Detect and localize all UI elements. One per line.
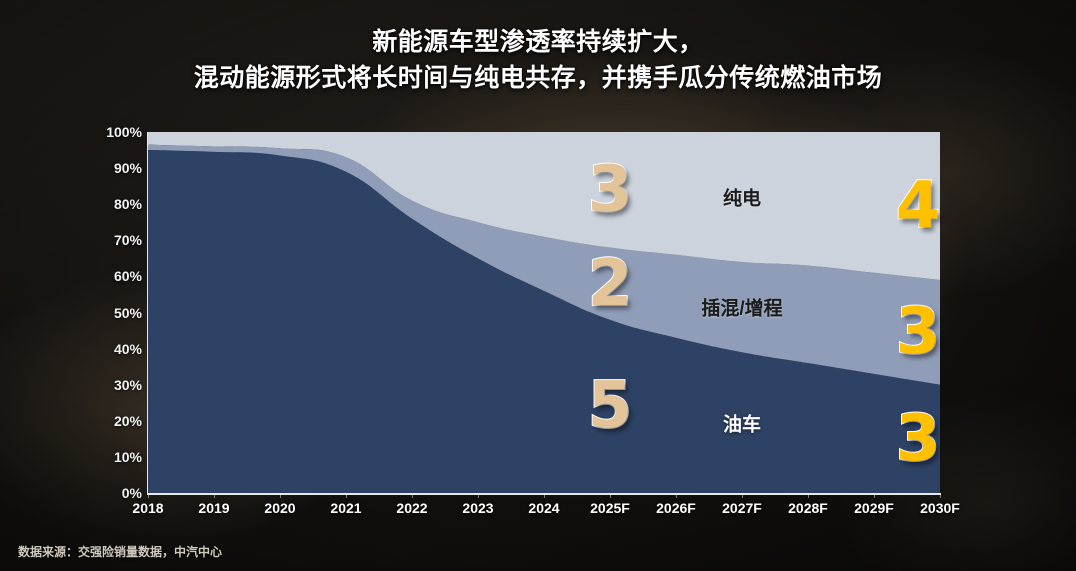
x-axis-tick-label: 2026F <box>656 500 696 516</box>
big-number-2030F-油车: 3 <box>896 407 941 471</box>
area-series-svg <box>148 132 940 493</box>
x-axis-tickmark <box>346 493 347 498</box>
series-label-油车: 油车 <box>723 409 761 436</box>
x-axis-tick-label: 2021 <box>330 500 361 516</box>
big-number-2025F-油车: 5 <box>588 374 633 438</box>
y-axis-tick-label: 20% <box>114 413 142 429</box>
x-axis-tick-label: 2024 <box>528 500 559 516</box>
y-axis-tick-label: 60% <box>114 268 142 284</box>
x-axis-tickmark <box>214 493 215 498</box>
y-axis-tick-label: 0% <box>122 485 142 501</box>
x-axis-tickmark <box>808 493 809 498</box>
x-axis-tick-label: 2029F <box>854 500 894 516</box>
x-axis-tick-label: 2022 <box>396 500 427 516</box>
x-axis-tickmark <box>610 493 611 498</box>
page-title: 新能源车型渗透率持续扩大， 混动能源形式将长时间与纯电共存，并携手瓜分传统燃油市… <box>0 24 1076 96</box>
x-axis-tickmark <box>280 493 281 498</box>
y-axis-tick-label: 10% <box>114 449 142 465</box>
x-axis-tick-label: 2019 <box>198 500 229 516</box>
x-axis-tick-label: 2027F <box>722 500 762 516</box>
y-axis-tick-label: 50% <box>114 305 142 321</box>
x-axis-tickmark <box>478 493 479 498</box>
x-axis-tick-label: 2023 <box>462 500 493 516</box>
series-label-插混/增程: 插混/增程 <box>701 294 782 321</box>
y-axis: 0%10%20%30%40%50%60%70%80%90%100% <box>96 132 142 493</box>
source-note: 数据来源：交强险销量数据，中汽中心 <box>18 543 222 560</box>
x-axis-tickmark <box>742 493 743 498</box>
big-number-2030F-插混/增程: 3 <box>896 300 941 364</box>
x-axis-tickmark <box>676 493 677 498</box>
y-axis-tick-label: 30% <box>114 377 142 393</box>
x-axis-tickmark <box>874 493 875 498</box>
stacked-area-plot <box>148 132 940 493</box>
x-axis-tick-label: 2025F <box>590 500 630 516</box>
x-axis-tickmark <box>940 493 941 498</box>
series-label-纯电: 纯电 <box>723 183 761 210</box>
x-axis-tickmark <box>148 493 149 498</box>
x-axis-tick-label: 2018 <box>132 500 163 516</box>
x-axis-tick-label: 2028F <box>788 500 828 516</box>
x-axis-tickmark <box>544 493 545 498</box>
y-axis-tick-label: 80% <box>114 196 142 212</box>
big-number-2025F-插混/增程: 2 <box>588 252 633 316</box>
big-number-2025F-纯电: 3 <box>588 158 633 222</box>
x-axis: 20182019202020212022202320242025F2026F20… <box>148 500 940 526</box>
x-axis-tick-label: 2030F <box>920 500 960 516</box>
x-axis-tickmark <box>412 493 413 498</box>
x-axis-tick-label: 2020 <box>264 500 295 516</box>
y-axis-tick-label: 70% <box>114 232 142 248</box>
big-number-2030F-纯电: 4 <box>896 174 941 238</box>
y-axis-tick-label: 100% <box>106 124 142 140</box>
y-axis-tick-label: 40% <box>114 341 142 357</box>
y-axis-tick-label: 90% <box>114 160 142 176</box>
